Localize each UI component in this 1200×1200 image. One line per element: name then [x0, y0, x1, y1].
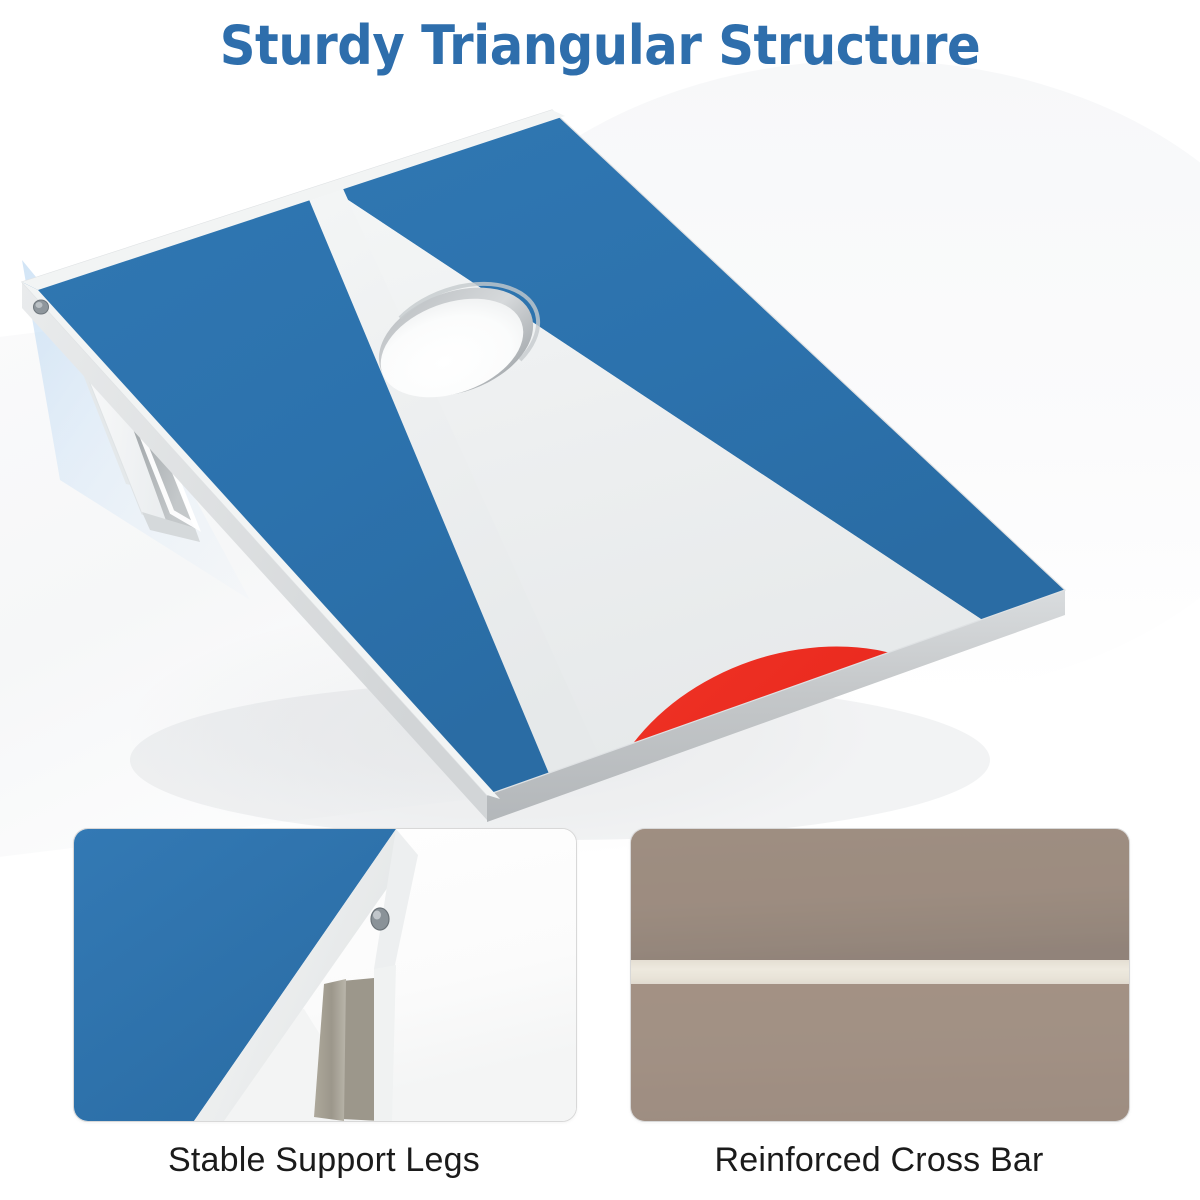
panel-left-screw-icon	[371, 908, 389, 930]
panel-left-screw-highlight-icon	[373, 911, 381, 920]
caption-reinforced-cross-bar: Reinforced Cross Bar	[630, 1132, 1128, 1188]
panel-left-illustration	[74, 829, 576, 1121]
hero-illustration	[0, 60, 1200, 840]
corner-screw-highlight-icon	[36, 302, 43, 308]
caption-stable-support-legs: Stable Support Legs	[73, 1132, 575, 1188]
infographic-canvas: Sturdy Triangular Structure	[0, 0, 1200, 1200]
panel-stable-support-legs[interactable]	[73, 828, 577, 1122]
panel-reinforced-cross-bar[interactable]	[630, 828, 1130, 1122]
panel-right-illustration	[631, 829, 1129, 1121]
